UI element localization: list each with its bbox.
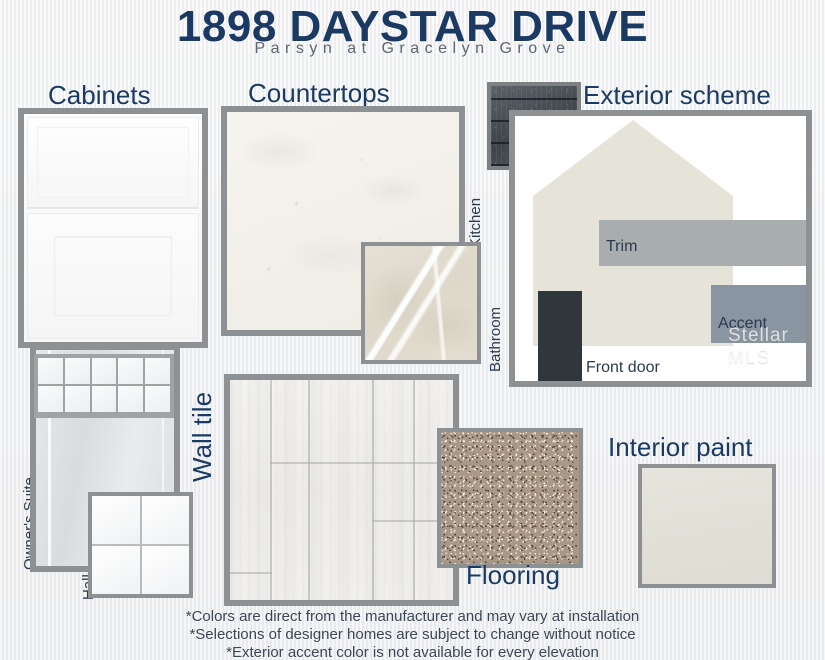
tile-cell: [92, 546, 140, 594]
tile-cell: [118, 386, 145, 414]
interior-paint-swatch[interactable]: [638, 464, 776, 588]
bathroom-label: Bathroom: [487, 307, 504, 372]
plank-seam: [270, 462, 453, 464]
plank-texture: [230, 380, 453, 600]
trim-label: Trim: [606, 238, 637, 256]
tile-cell: [118, 358, 145, 386]
tile-cell: [65, 386, 92, 414]
kitchen-label: Kitchen: [467, 198, 484, 248]
accent-label: Accent: [718, 315, 767, 333]
tile-cell: [38, 358, 65, 386]
countertops-heading: Countertops: [248, 78, 390, 109]
carpet-flooring-swatch[interactable]: [437, 428, 583, 568]
disclaimer-line-1: *Colors are direct from the manufacturer…: [0, 608, 825, 625]
cabinet-face: [24, 114, 202, 342]
hall-tile-swatch[interactable]: [88, 492, 193, 598]
tile-cell: [92, 386, 119, 414]
exterior-scheme-swatch[interactable]: Trim Accent Front door: [509, 110, 812, 387]
tile-cell: [38, 386, 65, 414]
plank-seam: [270, 380, 272, 600]
tile-row: [38, 358, 170, 386]
plank-seam: [230, 572, 272, 574]
owners-suite-tile-grid[interactable]: [34, 354, 174, 418]
tile-cell: [65, 358, 92, 386]
page-subtitle: Parsyn at Gracelyn Grove: [0, 40, 825, 58]
wall-tile-texture: [38, 358, 170, 414]
front-door-label: Front door: [586, 359, 660, 377]
disclaimer-line-2: *Selections of designer homes are subjec…: [0, 626, 825, 643]
tile-cell: [142, 546, 190, 594]
plank-seam: [308, 380, 310, 600]
plank-flooring-swatch[interactable]: [224, 374, 459, 606]
disclaimer-line-3: *Exterior accent color is not available …: [0, 644, 825, 660]
tile-cell: [145, 386, 170, 414]
exterior-scheme-heading: Exterior scheme: [583, 80, 771, 111]
cabinets-heading: Cabinets: [48, 80, 151, 111]
bathroom-countertop-swatch[interactable]: [361, 242, 481, 364]
interior-paint-color: [642, 468, 772, 584]
accent-color-swatch[interactable]: [711, 285, 812, 343]
tile-cell: [92, 496, 140, 544]
tile-cell: [92, 358, 119, 386]
cabinet-swatch[interactable]: [18, 108, 208, 348]
plank-seam: [413, 380, 415, 600]
marble-texture: [365, 246, 477, 360]
cabinet-door: [27, 213, 199, 339]
carpet-texture: [441, 432, 579, 564]
front-door-color-swatch[interactable]: [538, 291, 582, 381]
tile-row: [38, 386, 170, 414]
hall-tile-texture: [92, 496, 189, 594]
cabinet-drawer: [27, 117, 199, 209]
interior-paint-heading: Interior paint: [608, 432, 753, 463]
flooring-heading: Flooring: [466, 560, 560, 591]
design-selection-board: 1898 DAYSTAR DRIVE Parsyn at Gracelyn Gr…: [0, 0, 825, 660]
plank-seam: [372, 380, 374, 600]
tile-cell: [142, 496, 190, 544]
wall-tile-heading: Wall tile: [187, 392, 218, 482]
tile-cell: [145, 358, 170, 386]
